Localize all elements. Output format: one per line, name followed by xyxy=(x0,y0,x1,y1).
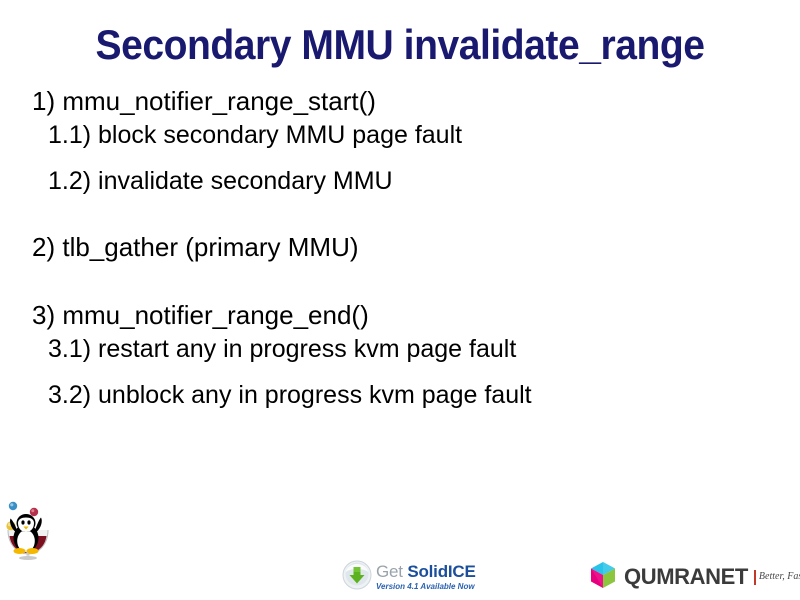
solidice-title: Get SolidICE xyxy=(376,563,476,581)
spacer xyxy=(32,264,772,298)
spacer xyxy=(32,152,772,164)
solidice-version-label: Version 4.1 Available Now xyxy=(376,582,476,592)
list-item: 3) mmu_notifier_range_end() xyxy=(32,298,772,332)
solidice-get-label: Get xyxy=(376,562,407,581)
get-solidice-logo[interactable]: Get SolidICE Version 4.1 Available Now xyxy=(342,560,482,594)
qumranet-wordmark: QUMRANET xyxy=(624,565,748,589)
list-item: 1.2) invalidate secondary MMU xyxy=(48,164,772,198)
page-title: Secondary MMU invalidate_range xyxy=(28,22,772,68)
list-item: 1.1) block secondary MMU page fault xyxy=(48,118,772,152)
qumranet-accent-bar xyxy=(754,570,756,585)
presentation-slide: Secondary MMU invalidate_range 1) mmu_no… xyxy=(0,0,800,600)
cube-icon xyxy=(588,560,618,595)
slide-body-list: 1) mmu_notifier_range_start() 1.1) block… xyxy=(32,84,772,412)
qumranet-tagline: Better, Faster, Open xyxy=(759,571,800,583)
spacer xyxy=(32,366,772,378)
list-item: 1) mmu_notifier_range_start() xyxy=(32,84,772,118)
list-item: 3.2) unblock any in progress kvm page fa… xyxy=(48,378,772,412)
spacer xyxy=(32,198,772,230)
tux-penguin-in-wineglass-icon xyxy=(2,492,62,560)
list-item: 2) tlb_gather (primary MMU) xyxy=(32,230,772,264)
list-item: 3.1) restart any in progress kvm page fa… xyxy=(48,332,772,366)
qumranet-logo[interactable]: QUMRANET Better, Faster, Open xyxy=(588,561,800,593)
download-arrow-icon xyxy=(342,560,372,595)
solidice-product-label: SolidICE xyxy=(407,562,475,581)
